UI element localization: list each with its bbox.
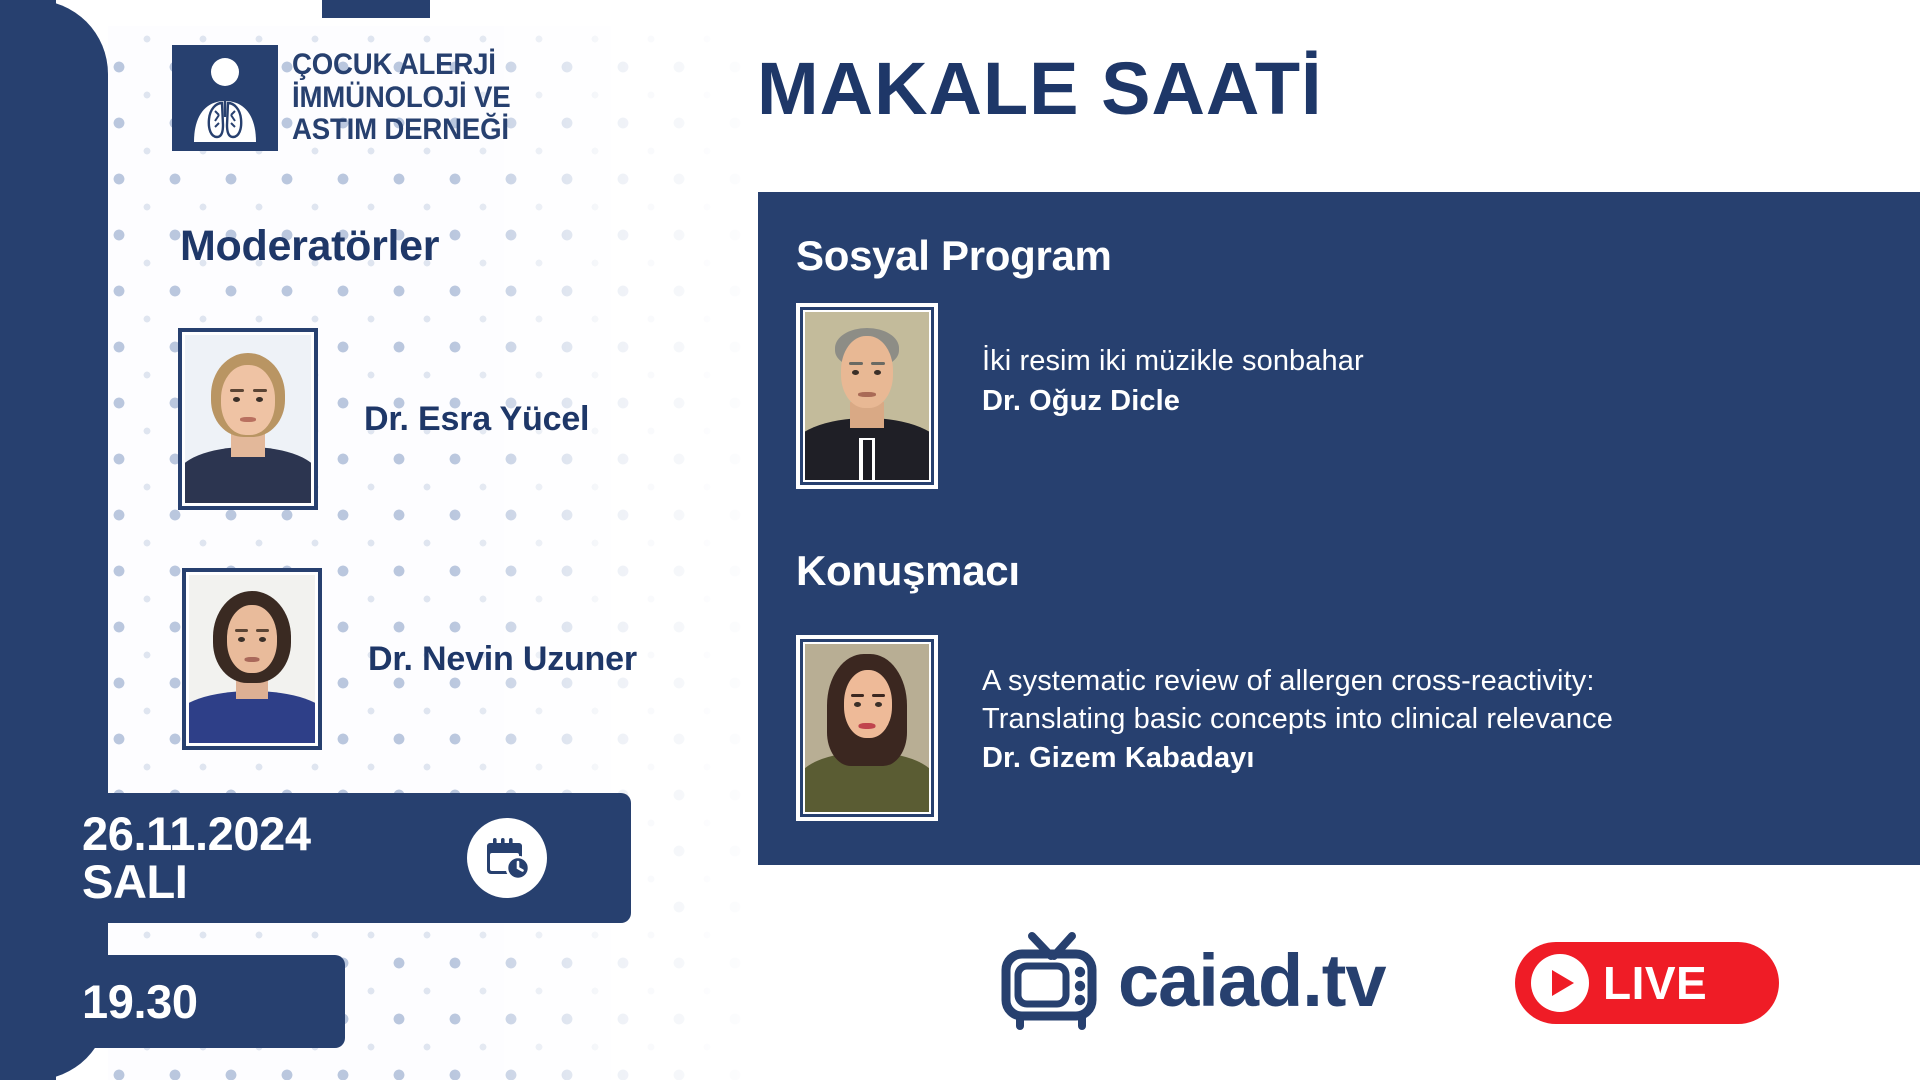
page-title: MAKALE SAATİ bbox=[757, 52, 1323, 126]
moderator-item: Dr. Nevin Uzuner bbox=[182, 568, 637, 750]
talk-title: İki resim iki müzikle sonbahar bbox=[982, 343, 1364, 381]
event-poster: ÇOCUK ALERJİ İMMÜNOLOJİ VE ASTIM DERNEĞİ… bbox=[0, 0, 1920, 1080]
moderator-item: Dr. Esra Yücel bbox=[178, 328, 589, 510]
event-time: 19.30 bbox=[82, 974, 198, 1029]
brand-name: caiad.tv bbox=[1118, 944, 1386, 1018]
speaker-name: Dr. Gizem Kabadayı bbox=[982, 740, 1613, 778]
program-item-speaker: A systematic review of allergen cross-re… bbox=[796, 635, 1613, 821]
time-block: 19.30 bbox=[0, 955, 345, 1048]
caiad-tv-logo[interactable]: caiad.tv bbox=[996, 930, 1386, 1032]
section-heading-social-program: Sosyal Program bbox=[796, 232, 1112, 280]
avatar bbox=[182, 568, 322, 750]
avatar bbox=[178, 328, 318, 510]
organization-name: ÇOCUK ALERJİ İMMÜNOLOJİ VE ASTIM DERNEĞİ bbox=[292, 49, 510, 146]
top-accent-tab bbox=[322, 0, 430, 18]
live-label: LIVE bbox=[1603, 956, 1707, 1010]
moderator-name: Dr. Esra Yücel bbox=[364, 400, 589, 439]
child-lungs-icon bbox=[172, 45, 278, 151]
program-details: A systematic review of allergen cross-re… bbox=[982, 635, 1613, 778]
play-icon bbox=[1531, 954, 1589, 1012]
live-badge[interactable]: LIVE bbox=[1515, 942, 1779, 1024]
dot-pattern-top-fade bbox=[108, 0, 768, 26]
talk-title: A systematic review of allergen cross-re… bbox=[982, 663, 1613, 738]
section-heading-speaker: Konuşmacı bbox=[796, 547, 1020, 595]
avatar bbox=[796, 303, 938, 489]
program-item-social: İki resim iki müzikle sonbahar Dr. Oğuz … bbox=[796, 303, 1364, 489]
speaker-name: Dr. Oğuz Dicle bbox=[982, 383, 1364, 421]
moderators-heading: Moderatörler bbox=[180, 222, 439, 271]
moderator-name: Dr. Nevin Uzuner bbox=[368, 640, 637, 679]
event-date: 26.11.2024 SALI bbox=[82, 810, 311, 906]
organization-logo: ÇOCUK ALERJİ İMMÜNOLOJİ VE ASTIM DERNEĞİ bbox=[172, 45, 529, 151]
date-block: 26.11.2024 SALI bbox=[0, 793, 631, 923]
program-details: İki resim iki müzikle sonbahar Dr. Oğuz … bbox=[982, 303, 1364, 420]
calendar-clock-icon bbox=[467, 818, 547, 898]
avatar bbox=[796, 635, 938, 821]
tv-icon bbox=[996, 930, 1112, 1032]
